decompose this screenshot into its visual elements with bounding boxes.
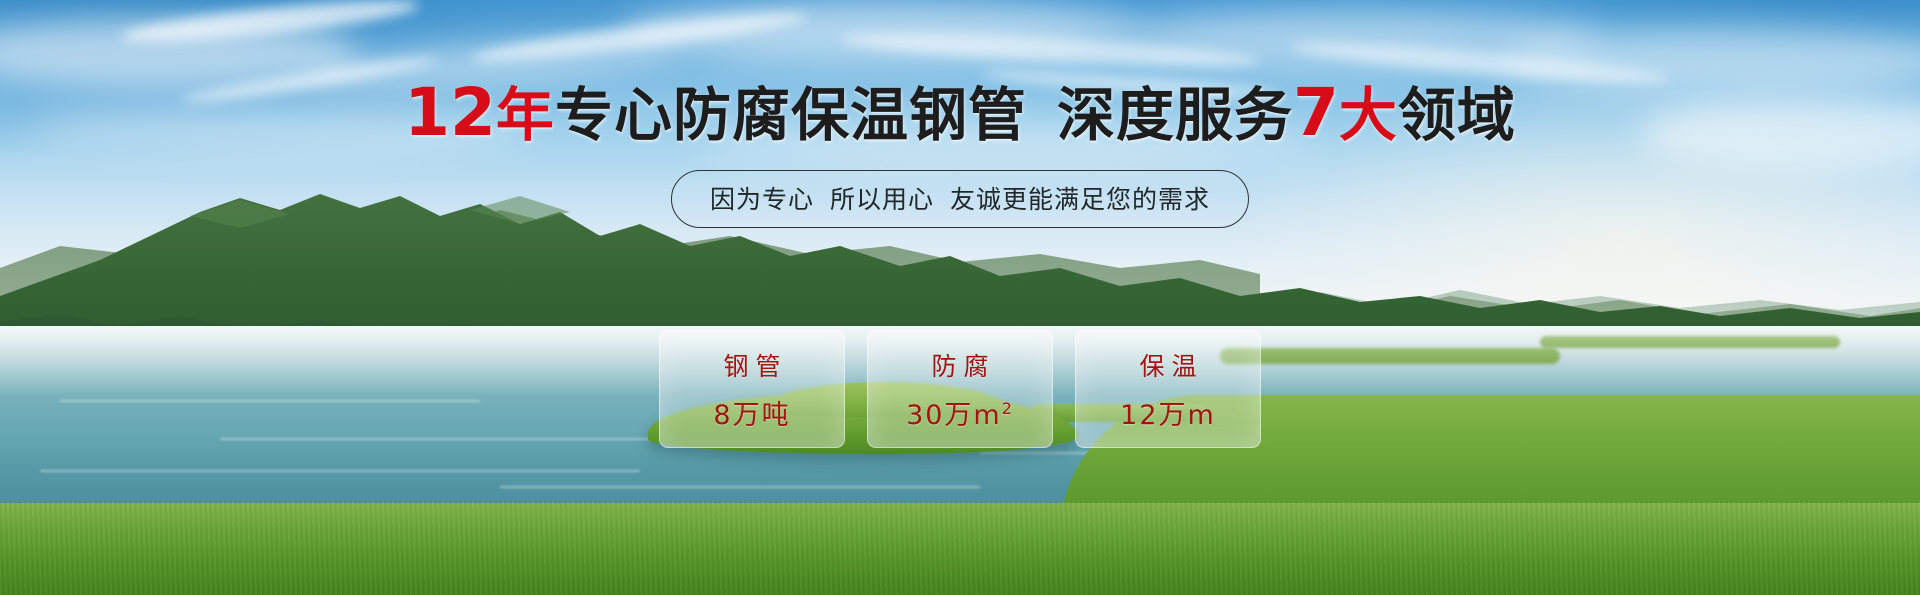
headline-fields-number: 7 xyxy=(1293,74,1339,151)
subtitle-part-3: 友诚更能满足您的需求 xyxy=(950,185,1210,214)
stat-card-value: 8万吨 xyxy=(713,393,790,432)
stat-card-anticorrosion: 防腐 30万m2 xyxy=(867,330,1053,448)
headline-main-text: 专心防腐保温钢管 xyxy=(555,81,1027,149)
stats-card-group: 钢管 8万吨 防腐 30万m2 保温 12万m xyxy=(659,330,1261,448)
stat-value-text: 12万m xyxy=(1120,400,1216,431)
page-title: 12年专心防腐保温钢管深度服务7大领域 xyxy=(0,80,1920,146)
headline-fields-unit: 大 xyxy=(1339,81,1398,149)
subtitle-part-2: 所以用心 xyxy=(830,185,934,214)
hero-banner: 12年专心防腐保温钢管深度服务7大领域 因为专心所以用心友诚更能满足您的需求 钢… xyxy=(0,0,1920,595)
headline-service-text: 深度服务 xyxy=(1057,81,1293,149)
headline-years-number: 12 xyxy=(404,74,496,151)
stat-card-value: 12万m xyxy=(1120,393,1216,432)
stat-card-insulation: 保温 12万m xyxy=(1075,330,1261,448)
banner-content: 12年专心防腐保温钢管深度服务7大领域 因为专心所以用心友诚更能满足您的需求 钢… xyxy=(0,0,1920,595)
stat-card-value: 30万m2 xyxy=(906,393,1014,432)
headline-fields-tail: 领域 xyxy=(1398,81,1516,149)
stat-value-text: 30万m xyxy=(906,400,1002,431)
subtitle-part-1: 因为专心 xyxy=(710,185,814,214)
stat-card-steel-pipe: 钢管 8万吨 xyxy=(659,330,845,448)
subtitle-pill: 因为专心所以用心友诚更能满足您的需求 xyxy=(671,170,1249,228)
headline-years-unit: 年 xyxy=(496,81,555,149)
stat-card-title: 防腐 xyxy=(924,347,995,383)
stat-card-title: 钢管 xyxy=(716,347,787,383)
stat-card-title: 保温 xyxy=(1132,347,1203,383)
stat-value-superscript: 2 xyxy=(1002,399,1014,418)
stat-value-text: 8万吨 xyxy=(713,400,790,431)
